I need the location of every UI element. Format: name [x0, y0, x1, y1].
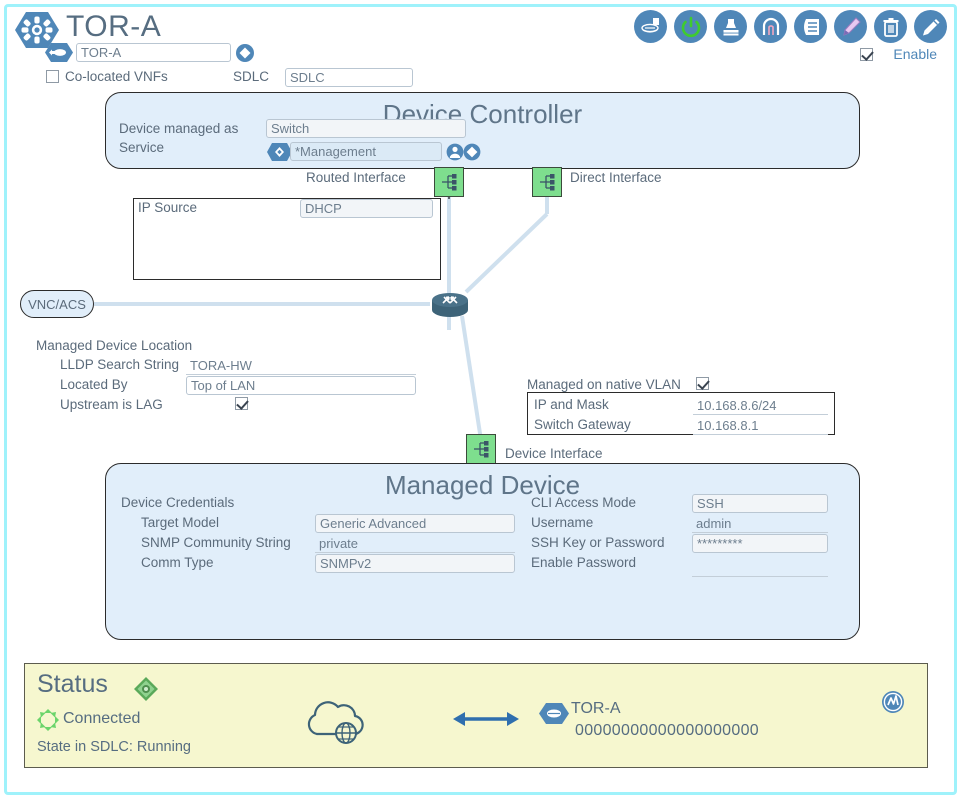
trash-icon[interactable]	[874, 10, 907, 43]
device-interface-icon[interactable]	[466, 434, 496, 464]
sdlc-label: SDLC	[233, 69, 269, 84]
list-document-icon[interactable]	[794, 10, 827, 43]
cloud-globe-icon	[301, 692, 369, 748]
page-title: TOR-A	[66, 10, 161, 44]
ip-source-label: IP Source	[138, 200, 197, 215]
colocated-vnfs-row[interactable]: Co-located VNFs	[46, 69, 168, 84]
comm-type-label: Comm Type	[141, 555, 214, 570]
colocated-vnfs-checkbox[interactable]	[46, 70, 59, 83]
ssh-key-or-password-label: SSH Key or Password	[531, 535, 665, 550]
ip-and-mask-input[interactable]	[693, 396, 828, 415]
comm-type-input[interactable]	[315, 554, 515, 573]
stack-document-icon[interactable]	[634, 10, 667, 43]
upstream-is-lag-checkbox[interactable]	[235, 397, 248, 410]
enable-row[interactable]: Enable	[860, 46, 937, 62]
device-name-input[interactable]	[76, 43, 231, 62]
service-label: Service	[119, 140, 164, 155]
enable-password-label: Enable Password	[531, 555, 636, 570]
cli-access-mode-input[interactable]	[692, 494, 828, 513]
managed-device-location-title: Managed Device Location	[36, 338, 192, 353]
lldp-search-string-input[interactable]	[186, 356, 416, 375]
routed-interface-icon[interactable]	[434, 167, 464, 197]
direct-interface-icon[interactable]	[532, 167, 562, 197]
snmp-community-string-label: SNMP Community String	[141, 535, 291, 550]
green-gear-connected-icon	[37, 709, 59, 731]
device-interface-label: Device Interface	[505, 446, 603, 461]
stamp-icon[interactable]	[714, 10, 747, 43]
target-model-input[interactable]	[315, 514, 515, 533]
enable-checkbox[interactable]	[860, 48, 873, 61]
status-title: Status	[37, 670, 108, 699]
service-hex-icon[interactable]	[266, 142, 293, 162]
target-model-label: Target Model	[141, 515, 219, 530]
snmp-community-string-input[interactable]	[315, 534, 515, 553]
upstream-is-lag-label: Upstream is LAG	[60, 397, 163, 412]
status-connected-text: Connected	[63, 710, 140, 728]
metrics-chart-icon[interactable]	[881, 690, 905, 714]
status-panel: Status Connected State in SDLC: Running	[24, 663, 928, 768]
green-diamond-status-icon	[133, 676, 159, 702]
switch-gateway-input[interactable]	[693, 416, 828, 435]
power-icon[interactable]	[674, 10, 707, 43]
located-by-label: Located By	[60, 377, 128, 392]
status-device-name: TOR-A	[571, 700, 620, 718]
lldp-search-string-label: LLDP Search String	[60, 357, 179, 372]
cli-access-mode-label: CLI Access Mode	[531, 495, 636, 510]
device-name-row	[44, 42, 255, 63]
pencil-icon[interactable]	[914, 10, 947, 43]
status-state-text: State in SDLC: Running	[37, 739, 191, 755]
direct-interface-label: Direct Interface	[570, 170, 662, 185]
managed-on-native-vlan-checkbox[interactable]	[696, 377, 709, 390]
router-icon[interactable]	[428, 288, 472, 322]
username-input[interactable]	[692, 514, 828, 533]
sdlc-input[interactable]	[285, 68, 413, 87]
ip-and-mask-label: IP and Mask	[534, 397, 609, 412]
enable-label: Enable	[893, 46, 937, 62]
routed-interface-label: Routed Interface	[306, 170, 406, 185]
name-tag-icon	[44, 42, 74, 63]
vnc-acs-label: VNC/ACS	[28, 297, 86, 312]
ssh-key-or-password-input[interactable]	[692, 534, 828, 553]
arch-icon[interactable]	[754, 10, 787, 43]
highlighter-icon[interactable]	[834, 10, 867, 43]
status-device-hexagon-icon	[538, 702, 570, 725]
managed-on-native-vlan-label: Managed on native VLAN	[527, 377, 681, 392]
device-credentials-label: Device Credentials	[121, 495, 234, 510]
switch-gateway-label: Switch Gateway	[534, 417, 631, 432]
status-device-id: 00000000000000000000	[575, 722, 759, 740]
username-label: Username	[531, 515, 593, 530]
toolbar	[634, 10, 947, 43]
double-arrow-icon	[453, 710, 519, 728]
user-badge-icon[interactable]	[446, 143, 464, 161]
located-by-input[interactable]	[186, 376, 416, 395]
diamond-action-icon[interactable]	[235, 43, 255, 63]
service-diamond-action-icon[interactable]	[463, 143, 481, 161]
vnc-acs-node[interactable]: VNC/ACS	[20, 290, 94, 318]
colocated-vnfs-label: Co-located VNFs	[65, 69, 168, 84]
device-managed-as-label: Device managed as	[119, 121, 238, 136]
ip-source-input[interactable]	[300, 199, 433, 218]
device-managed-as-input[interactable]	[266, 119, 466, 138]
enable-password-input[interactable]	[692, 558, 828, 577]
service-input[interactable]	[290, 142, 442, 161]
